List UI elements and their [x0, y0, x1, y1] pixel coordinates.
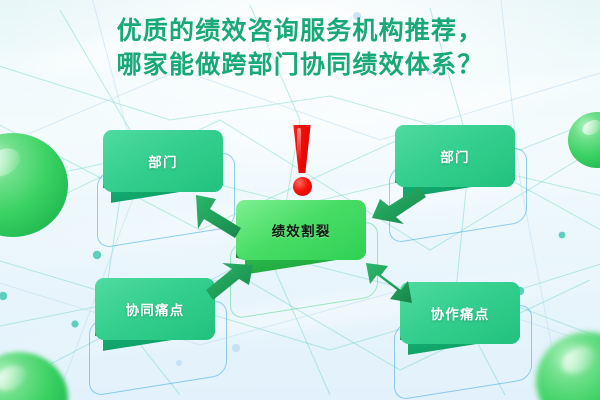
node-label: 协同痛点 [95, 278, 215, 340]
node-label: 部门 [103, 130, 223, 192]
node-label: 绩效割裂 [236, 200, 366, 260]
node-label: 协作痛点 [400, 282, 520, 344]
poster-canvas: 优质的绩效咨询服务机构推荐， 哪家能做跨部门协同绩效体系？ [0, 0, 600, 400]
sphere-gloss [0, 360, 30, 395]
sphere-gloss [0, 142, 25, 182]
exclamation-bar [290, 125, 314, 173]
poster-title: 优质的绩效咨询服务机构推荐， 哪家能做跨部门协同绩效体系？ [0, 14, 600, 82]
sphere-gloss [558, 341, 600, 378]
sphere-gloss [580, 117, 600, 138]
title-line-1: 优质的绩效咨询服务机构推荐， [0, 14, 600, 48]
exclamation-mark-icon [286, 125, 318, 197]
exclamation-dot [293, 177, 312, 196]
node-label: 部门 [395, 125, 515, 187]
title-line-2: 哪家能做跨部门协同绩效体系？ [0, 48, 600, 82]
